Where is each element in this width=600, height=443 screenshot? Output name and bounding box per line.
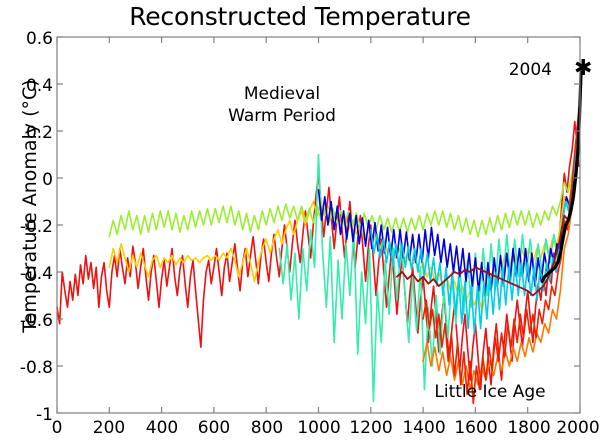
y-tick-label: -0.6	[5, 311, 53, 331]
y-tick-label: 0	[5, 170, 53, 190]
y-tick-label: -1	[5, 405, 53, 425]
y-tick-label: 0.4	[5, 76, 53, 96]
y-tick-label: -0.8	[5, 358, 53, 378]
x-tick-label: 0	[52, 418, 63, 438]
annotation-line-1: Medieval	[228, 83, 336, 105]
x-tick-label: 1600	[454, 418, 497, 438]
annotation-little-ice-age: Little Ice Age	[434, 382, 545, 402]
x-tick-label: 200	[93, 418, 125, 438]
y-tick-label: 0.6	[5, 29, 53, 49]
x-tick-label: 1200	[349, 418, 392, 438]
x-tick-label: 1400	[402, 418, 445, 438]
x-tick-label: 2000	[556, 418, 599, 438]
annotation-medieval-warm-period: Medieval Warm Period	[228, 83, 336, 127]
x-tick-label: 600	[198, 418, 230, 438]
chart-figure: Reconstructed Temperature Temperature An…	[0, 0, 600, 443]
x-tick-label: 400	[146, 418, 178, 438]
x-tick-label: 1800	[507, 418, 550, 438]
chart-title: Reconstructed Temperature	[0, 2, 600, 31]
y-tick-label: -0.4	[5, 264, 53, 284]
asterisk-marker-icon: ✱	[574, 58, 592, 80]
annotation-end-year: 2004	[509, 60, 552, 80]
y-axis-tick-labels: 0.6 0.4 0.2 0 -0.2 -0.4 -0.6 -0.8 -1	[0, 0, 53, 443]
x-tick-label: 800	[251, 418, 283, 438]
x-tick-label: 1000	[297, 418, 340, 438]
y-tick-label: -0.2	[5, 217, 53, 237]
annotation-line-2: Warm Period	[228, 105, 336, 127]
y-tick-label: 0.2	[5, 123, 53, 143]
